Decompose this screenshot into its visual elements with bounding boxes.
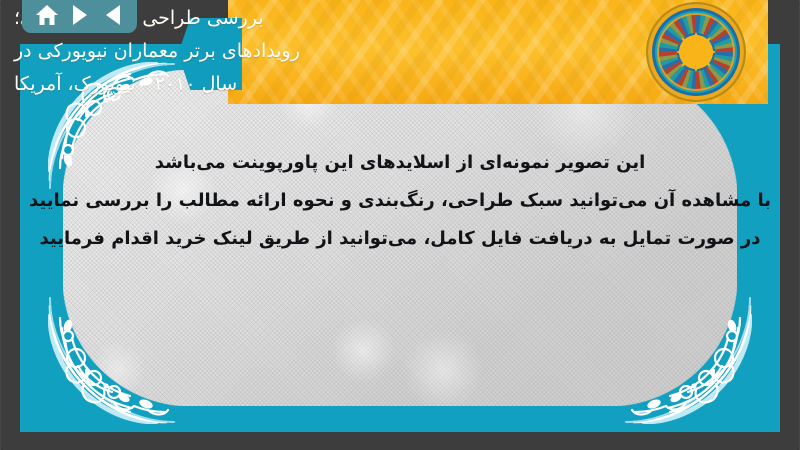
arrow-right-icon (73, 5, 87, 25)
medallion-star (676, 32, 716, 72)
body-line-1: این تصویر نمونه‌ای از اسلایدهای این پاور… (155, 144, 646, 182)
previous-slide-button[interactable] (100, 3, 126, 27)
slide-navigation-bar (22, 0, 137, 33)
next-slide-button[interactable] (67, 3, 93, 27)
body-line-3: در صورت تمایل به دریافت فایل کامل، می‌تو… (40, 220, 761, 258)
panel-corner-bottom-left (63, 276, 193, 406)
slide-body-text: این تصویر نمونه‌ای از اسلایدهای این پاور… (20, 144, 780, 258)
islamic-mandala-medallion-icon (648, 4, 744, 100)
slide-viewer: این تصویر نمونه‌ای از اسلایدهای این پاور… (0, 0, 800, 450)
title-band-connector (228, 18, 242, 90)
home-icon (35, 4, 59, 26)
body-line-2: با مشاهده آن می‌توانید سبک طراحی، رنگ‌بن… (29, 182, 771, 220)
arrow-left-icon (106, 5, 120, 25)
home-button[interactable] (34, 3, 60, 27)
